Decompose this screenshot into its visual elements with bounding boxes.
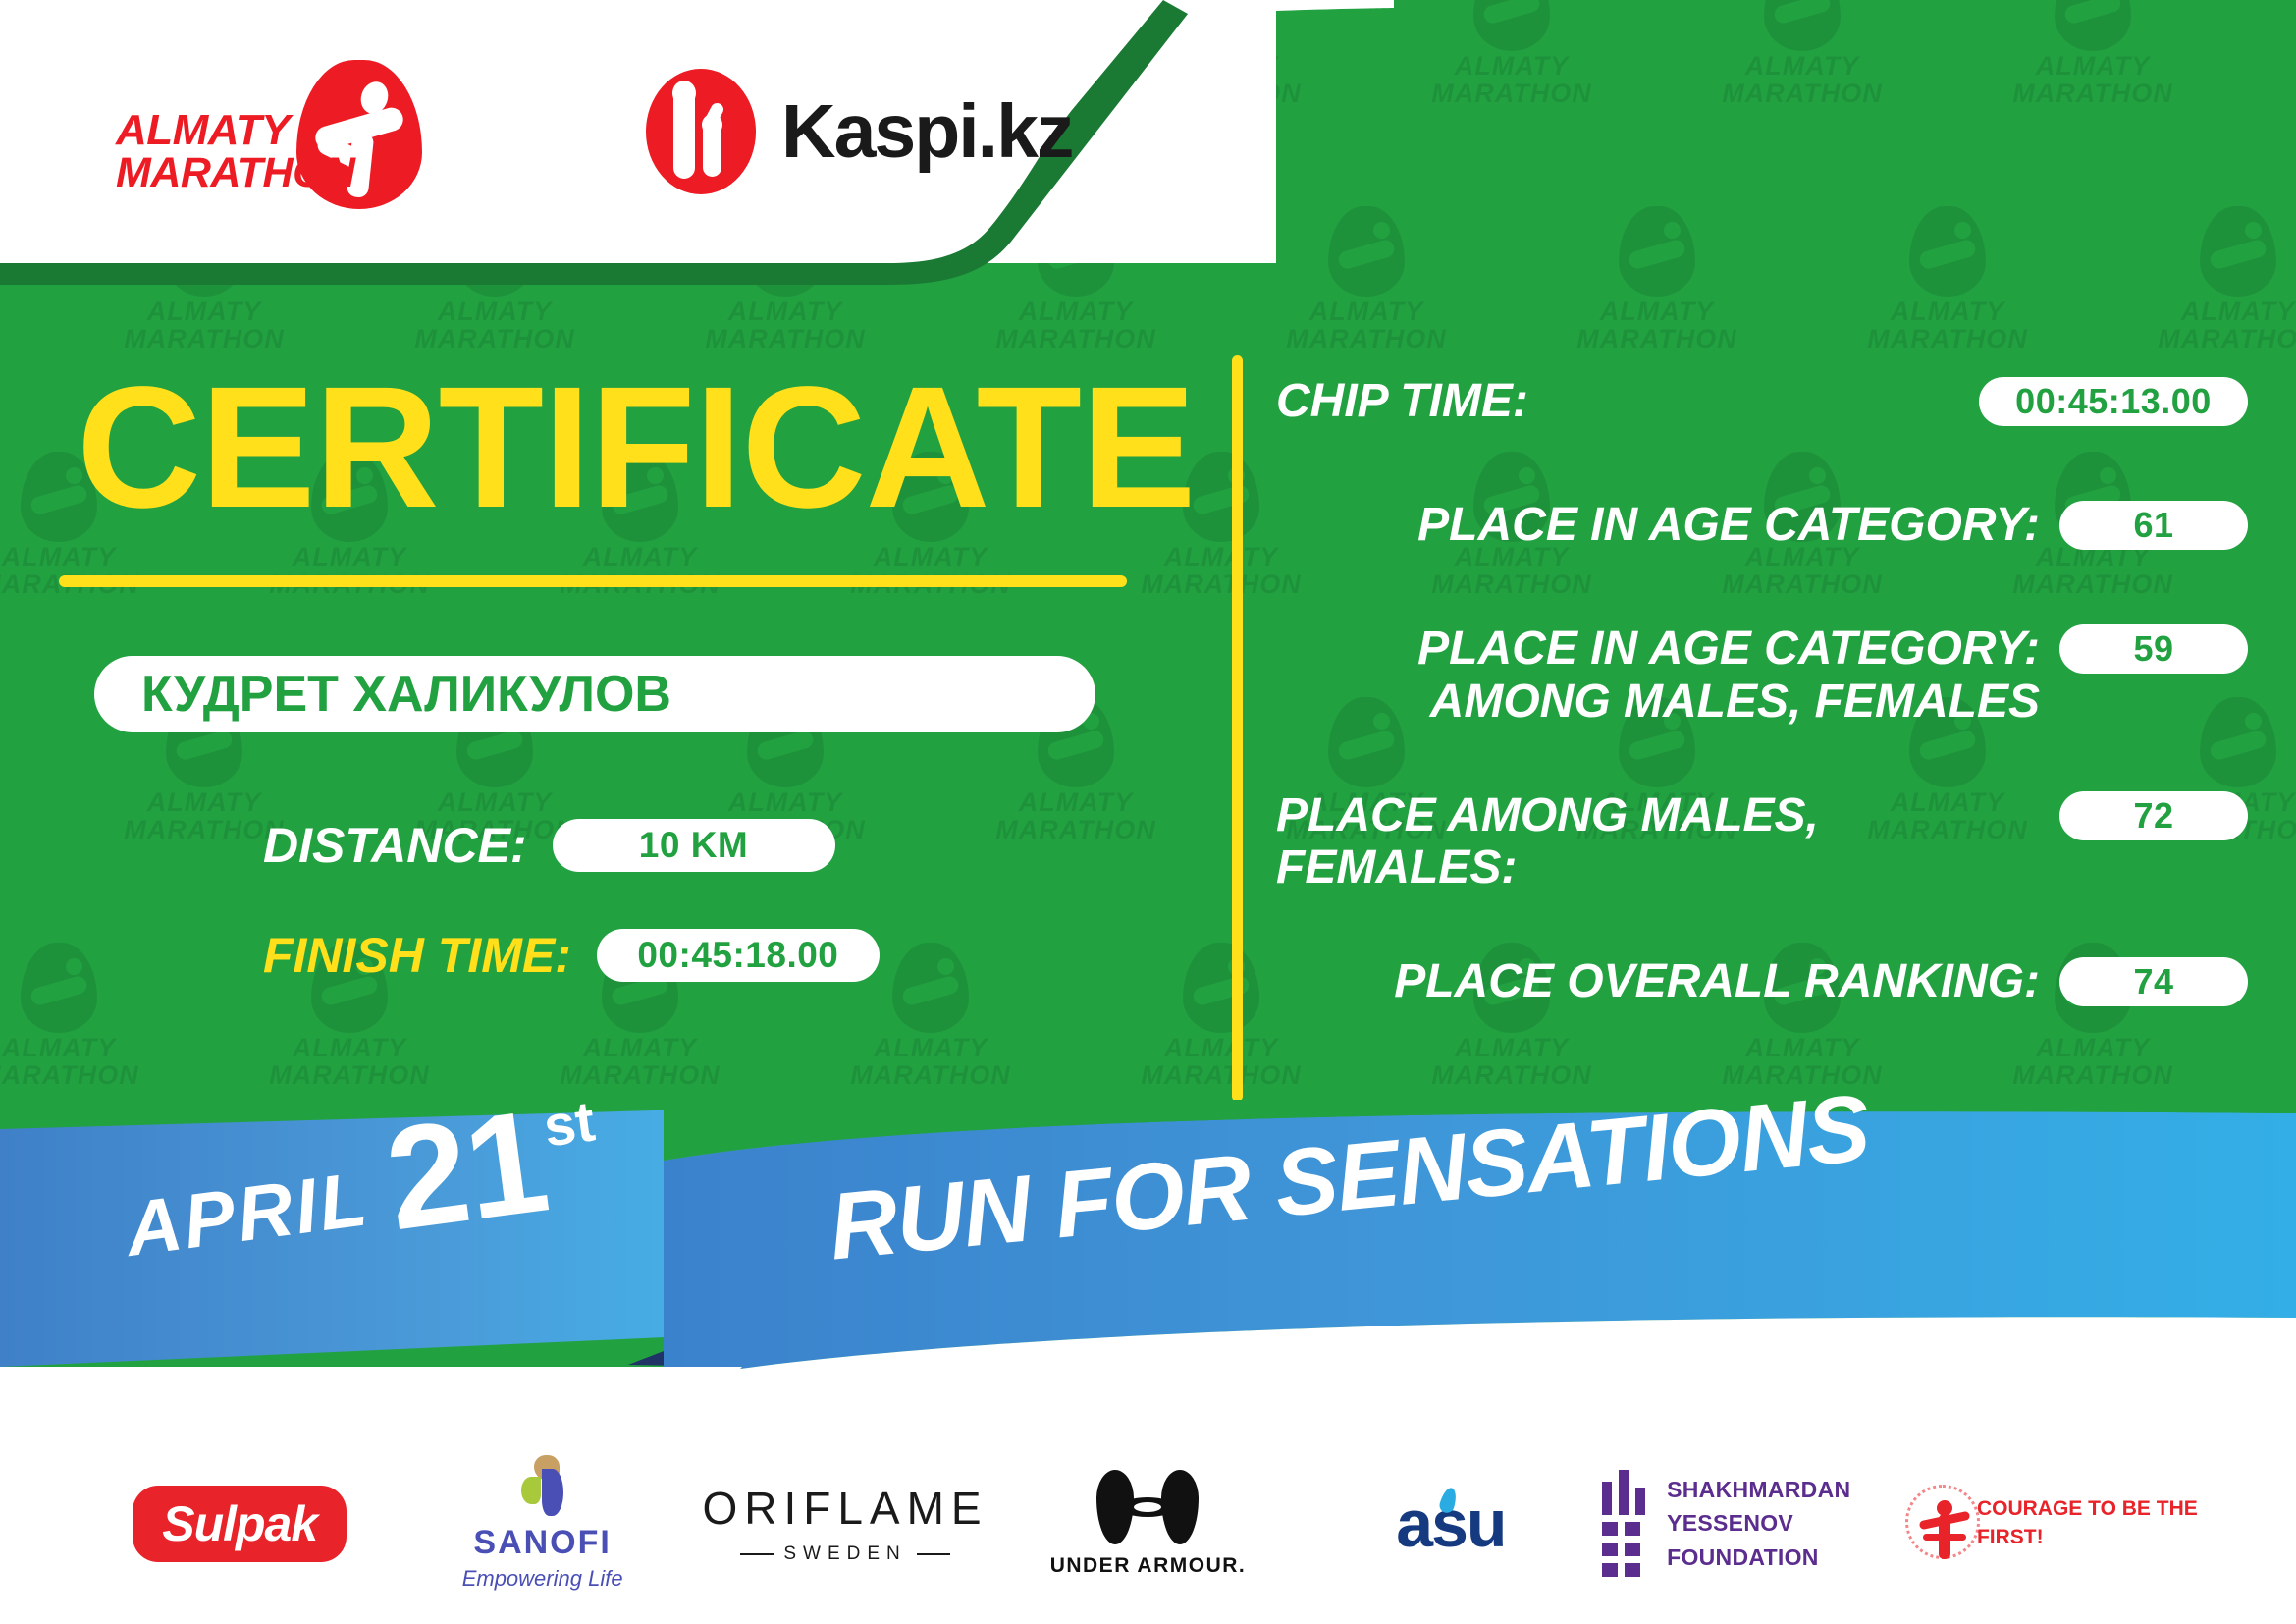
page-title: CERTIFICATE xyxy=(0,361,1207,534)
almaty-marathon-logo: ALMATY MARATHON xyxy=(116,58,440,205)
yessenov-logo: SHAKHMARDAN YESSENOV FOUNDATION xyxy=(1602,1470,1904,1577)
stat-row: DISTANCE:10 KM xyxy=(0,817,1207,874)
yessenov-line1: SHAKHMARDAN YESSENOV xyxy=(1667,1473,1904,1541)
result-value: 74 xyxy=(2133,961,2173,1002)
oriflame-wordmark: ORIFLAME xyxy=(702,1482,988,1535)
stat-value-pill: 00:45:18.00 xyxy=(597,929,880,982)
corporate-fund-person-icon xyxy=(1905,1479,1965,1569)
result-value-pill: 72 xyxy=(2059,791,2248,840)
result-label: PLACE AMONG MALES, FEMALES: xyxy=(1276,787,2040,895)
yessenov-line2: FOUNDATION xyxy=(1667,1541,1904,1575)
corporate-fund-tagline: COURAGE TO BE THE FIRST! xyxy=(1977,1495,2208,1551)
yessenov-mark-icon xyxy=(1602,1470,1645,1577)
result-value: 59 xyxy=(2133,628,2173,670)
result-row: PLACE AMONG MALES, FEMALES:72 xyxy=(1276,787,2248,895)
sponsor-sulpak: Sulpak xyxy=(88,1486,391,1562)
oriflame-tagline: SWEDEN xyxy=(783,1543,906,1565)
kaspi-wordmark: Kaspi.kz xyxy=(781,88,1072,176)
participant-name-field: КУДРЕТ ХАЛИКУЛОВ xyxy=(94,656,1095,732)
result-value: 61 xyxy=(2133,505,2173,546)
result-label: CHIP TIME: xyxy=(1276,373,1959,428)
header-logos: ALMATY MARATHON Kaspi.kz xyxy=(0,0,1276,263)
vertical-divider xyxy=(1232,355,1243,1102)
event-day-suffix: st xyxy=(540,1089,599,1161)
sponsor-asu: asu xyxy=(1300,1486,1602,1562)
stat-value-pill: 10 KM xyxy=(553,819,835,872)
yessenov-wordmark: SHAKHMARDAN YESSENOV FOUNDATION xyxy=(1667,1473,1904,1575)
under-armour-mark-icon xyxy=(1096,1470,1199,1544)
sponsor-under-armour: UNDER ARMOUR. xyxy=(996,1470,1299,1578)
almaty-marathon-wordmark: ALMATY MARATHON xyxy=(116,109,371,194)
asu-logo: asu xyxy=(1396,1486,1505,1562)
sanofi-logo: SANOFI Empowering Life xyxy=(462,1455,623,1592)
stat-label: FINISH TIME: xyxy=(263,927,571,984)
marathon-logo-line2: MARATHON xyxy=(116,152,371,194)
result-label: PLACE IN AGE CATEGORY: xyxy=(1276,497,2040,552)
sponsor-oriflame: ORIFLAME SWEDEN xyxy=(694,1482,996,1565)
under-armour-wordmark: UNDER ARMOUR. xyxy=(1050,1554,1247,1578)
left-stats-list: DISTANCE:10 KMFINISH TIME:00:45:18.00 xyxy=(0,817,1207,984)
result-value-pill: 59 xyxy=(2059,624,2248,674)
event-day: 21 xyxy=(380,1096,554,1246)
result-value-pill: 00:45:13.00 xyxy=(1979,377,2248,426)
sanofi-mark-icon xyxy=(508,1455,577,1520)
oriflame-tagline-row: SWEDEN xyxy=(702,1543,988,1565)
result-row: PLACE OVERALL RANKING:74 xyxy=(1276,953,2248,1018)
result-label: PLACE OVERALL RANKING: xyxy=(1276,953,2040,1008)
result-label: PLACE IN AGE CATEGORY: AMONG MALES, FEMA… xyxy=(1276,621,2040,729)
left-column: CERTIFICATE КУДРЕТ ХАЛИКУЛОВ DISTANCE:10… xyxy=(0,263,1207,1037)
corporate-fund-logo: COURAGE TO BE THE FIRST! xyxy=(1905,1479,2208,1569)
result-row: CHIP TIME:00:45:13.00 xyxy=(1276,373,2248,438)
result-value: 00:45:13.00 xyxy=(2015,381,2212,422)
stat-value: 00:45:18.00 xyxy=(637,935,838,976)
sanofi-wordmark: SANOFI xyxy=(462,1524,623,1562)
certificate-page: ALMATYMARATHONALMATYMARATHONALMATYMARATH… xyxy=(0,0,2296,1624)
participant-name-value: КУДРЕТ ХАЛИКУЛОВ xyxy=(141,665,671,724)
oriflame-logo: ORIFLAME SWEDEN xyxy=(702,1482,988,1565)
result-value-pill: 61 xyxy=(2059,501,2248,550)
result-value: 72 xyxy=(2133,795,2173,837)
sponsor-yessenov-foundation: SHAKHMARDAN YESSENOV FOUNDATION xyxy=(1602,1470,1904,1577)
sanofi-tagline: Empowering Life xyxy=(462,1566,623,1592)
kaspi-logo: Kaspi.kz xyxy=(646,69,1072,194)
marathon-logo-line1: ALMATY xyxy=(116,109,371,152)
sponsor-bar: Sulpak SANOFI Empowering Life ORIFLAME S… xyxy=(0,1423,2296,1624)
kaspi-people-icon xyxy=(646,69,756,194)
sulpak-logo: Sulpak xyxy=(133,1486,347,1562)
result-row: PLACE IN AGE CATEGORY:61 xyxy=(1276,497,2248,562)
stat-row: FINISH TIME:00:45:18.00 xyxy=(0,927,1207,984)
stat-value: 10 KM xyxy=(639,825,748,866)
result-row: PLACE IN AGE CATEGORY: AMONG MALES, FEMA… xyxy=(1276,621,2248,729)
title-underline xyxy=(59,575,1127,587)
stat-label: DISTANCE: xyxy=(263,817,527,874)
sponsor-corporate-fund: COURAGE TO BE THE FIRST! xyxy=(1905,1479,2208,1569)
result-value-pill: 74 xyxy=(2059,957,2248,1006)
sponsor-sanofi: SANOFI Empowering Life xyxy=(391,1455,693,1592)
results-list: CHIP TIME:00:45:13.00PLACE IN AGE CATEGO… xyxy=(1276,373,2248,1077)
under-armour-logo: UNDER ARMOUR. xyxy=(1050,1470,1247,1578)
